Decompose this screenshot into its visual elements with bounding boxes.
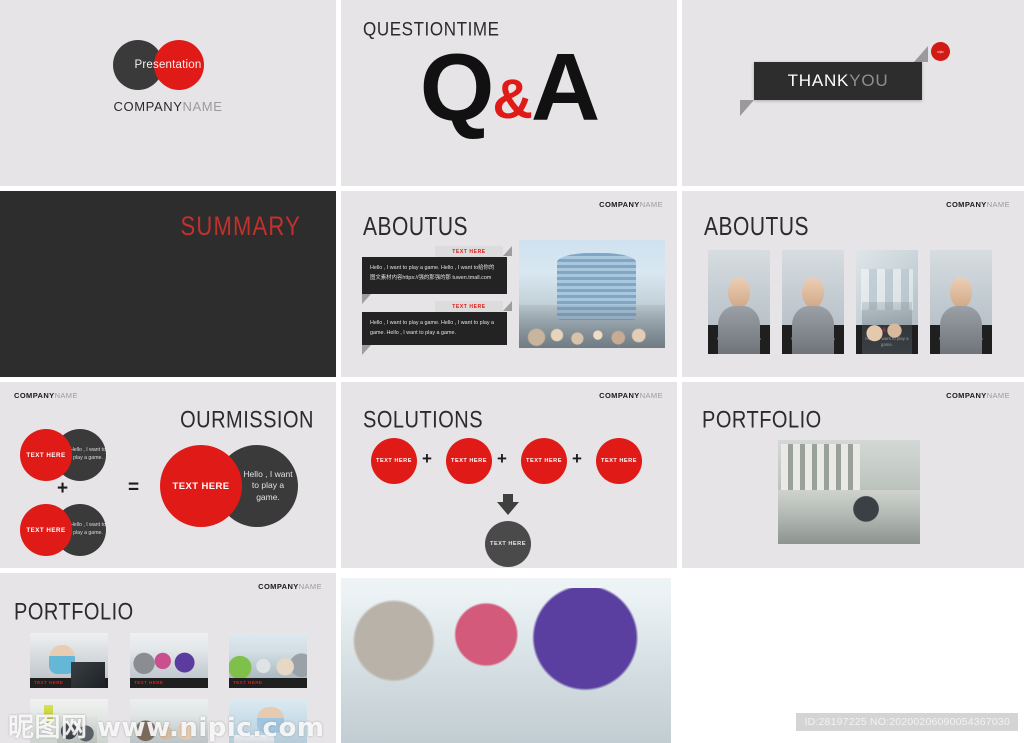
member-desc: Hello , I want to play a game. xyxy=(713,336,765,349)
company-bold: COMPANY xyxy=(946,200,987,209)
company-bold: COMPANY xyxy=(14,391,55,400)
solution-circle[interactable]: TEXT HERE xyxy=(446,438,492,484)
team-member-card[interactable]: NAME Hello , I want to play a game. xyxy=(930,250,992,354)
member-name: NAME xyxy=(713,328,765,334)
company-light: NAME xyxy=(55,391,78,400)
portfolio-card[interactable]: TEXT HERE xyxy=(229,633,307,688)
down-arrow-icon xyxy=(497,502,519,515)
solution-circle[interactable]: TEXT HERE xyxy=(521,438,567,484)
plus-operator: + xyxy=(422,449,432,469)
member-desc: Hello , I want to play a game. xyxy=(861,336,913,349)
company-bold: COMPANY xyxy=(946,391,987,400)
company-light: NAME xyxy=(299,582,322,591)
team-member-card[interactable]: NAME Hello , I want to play a game. xyxy=(782,250,844,354)
caption-title: TEXT HERE xyxy=(233,680,303,685)
mission-red-circle: TEXT HERE xyxy=(20,504,72,556)
bubble-tab-label: TEXT HERE xyxy=(452,304,485,310)
caption-title: TEXT HERE xyxy=(34,680,104,685)
slide-summary[interactable]: SUMMARY GONEXT ABOUTUS MISSION ANALYSIS … xyxy=(0,191,336,377)
letter-a: A xyxy=(531,40,598,136)
company-light: NAME xyxy=(987,200,1010,209)
company-tag: COMPANYNAME xyxy=(599,391,663,400)
team-member-card[interactable]: NAME Hello , I want to play a game. xyxy=(856,250,918,354)
page-title: OURMISSION xyxy=(180,407,314,435)
page-title: ABOUTUS xyxy=(363,213,468,242)
you-word: YOU xyxy=(849,71,888,90)
mission-result-red-circle: TEXT HERE xyxy=(160,445,242,527)
solution-circle[interactable]: TEXT HERE xyxy=(596,438,642,484)
cover-circle-label: Presentation xyxy=(113,40,223,90)
red-badge-icon: nipic xyxy=(931,42,950,61)
cover-circle-group: Presentation xyxy=(113,40,223,90)
company-tag: COMPANYNAME xyxy=(946,200,1010,209)
solution-circle[interactable]: TEXT HERE xyxy=(371,438,417,484)
company-light: NAME xyxy=(640,200,663,209)
company-bold: COMPANY xyxy=(599,391,640,400)
member-name: NAME xyxy=(861,328,913,334)
page-title: PORTFOLIO xyxy=(14,599,134,627)
equals-operator: = xyxy=(128,477,139,499)
member-name: NAME xyxy=(787,328,839,334)
bubble-fold-bottom-icon xyxy=(362,345,371,355)
page-title: SOLUTIONS xyxy=(363,407,483,435)
thank-you-text: THANKYOU xyxy=(788,71,889,91)
company-tag: COMPANYNAME xyxy=(14,391,78,400)
company-bold: COMPANY xyxy=(114,99,183,114)
portfolio-card[interactable]: TEXT HERE xyxy=(130,633,208,688)
mission-red-circle: TEXT HERE xyxy=(20,429,72,481)
thank-word: THANK xyxy=(788,71,850,90)
member-desc: Hello , I want to play a game. xyxy=(787,336,839,349)
bubble-tab: TEXT HERE xyxy=(435,301,503,312)
ribbon-fold-bottom-left-icon xyxy=(740,100,754,116)
slide-thumbnail-grid: Presentation COMPANYNAME QUESTIONTIME Q … xyxy=(0,0,1024,743)
company-light: NAME xyxy=(987,391,1010,400)
bubble-fold-top-icon xyxy=(503,301,512,311)
company-light: NAME xyxy=(640,391,663,400)
page-title: PORTFOLIO xyxy=(702,407,822,435)
about-us-photo xyxy=(519,240,665,348)
ampersand: & xyxy=(492,71,530,127)
qa-lettering: Q & A xyxy=(341,40,677,136)
member-name: NAME xyxy=(935,328,987,334)
portfolio-caption: TEXT HERE Hello , I want to play a game.… xyxy=(778,512,920,544)
down-arrow-stem-icon xyxy=(503,494,513,502)
company-tag: COMPANYNAME xyxy=(258,582,322,591)
plus-operator: + xyxy=(57,478,68,500)
ribbon-fold-top-right-icon xyxy=(914,46,928,62)
letter-q: Q xyxy=(420,40,493,136)
plus-operator: + xyxy=(497,449,507,469)
solution-result-circle[interactable]: TEXT HERE xyxy=(485,521,531,567)
portfolio-card[interactable]: TEXT HERE xyxy=(30,633,108,688)
image-id-watermark: ID:28197225 NO:20200206090054367030 xyxy=(796,713,1018,731)
company-bold: COMPANY xyxy=(599,200,640,209)
company-tag: COMPANYNAME xyxy=(599,200,663,209)
portfolio-caption: TEXT HERE xyxy=(130,678,208,688)
slide-our-mission[interactable]: COMPANYNAME OURMISSION TEXT HERE Hello ,… xyxy=(0,382,336,568)
slide-photo-students[interactable] xyxy=(341,578,671,743)
slide-portfolio-single[interactable]: COMPANYNAME PORTFOLIO TEXT HERE Hello , … xyxy=(682,382,1024,568)
portfolio-caption: TEXT HERE xyxy=(229,678,307,688)
bubble-body: Hello , I want to play a game. Hello , I… xyxy=(362,257,507,294)
company-tag: COMPANYNAME xyxy=(946,391,1010,400)
caption-title: TEXT HERE xyxy=(785,516,913,522)
team-member-caption: NAME Hello , I want to play a game. xyxy=(782,325,844,354)
member-desc: Hello , I want to play a game. xyxy=(935,336,987,349)
slide-thank-you[interactable]: THANKYOU nipic xyxy=(682,0,1024,186)
company-light: NAME xyxy=(183,99,223,114)
team-member-caption: NAME Hello , I want to play a game. xyxy=(930,325,992,354)
slide-about-us-team[interactable]: COMPANYNAME ABOUTUS NAME Hello , I want … xyxy=(682,191,1024,377)
bubble-fold-bottom-icon xyxy=(362,294,371,304)
cover-company-name: COMPANYNAME xyxy=(114,99,223,114)
bubble-fold-top-icon xyxy=(503,246,512,256)
caption-title: TEXT HERE xyxy=(134,680,204,685)
page-title: ABOUTUS xyxy=(704,213,809,242)
slide-question-time[interactable]: QUESTIONTIME Q & A xyxy=(341,0,677,186)
slide-solutions[interactable]: COMPANYNAME SOLUTIONS TEXT HERE + TEXT H… xyxy=(341,382,677,568)
summary-title: SUMMARY xyxy=(181,211,301,242)
team-member-caption: NAME Hello , I want to play a game. xyxy=(708,325,770,354)
portfolio-caption: TEXT HERE xyxy=(30,678,108,688)
thank-you-ribbon: THANKYOU xyxy=(754,62,922,100)
slide-cover[interactable]: Presentation COMPANYNAME xyxy=(0,0,336,186)
caption-desc: Hello , I want to play a game. Hello , I… xyxy=(785,524,913,538)
plus-operator: + xyxy=(572,449,582,469)
team-member-card[interactable]: NAME Hello , I want to play a game. xyxy=(708,250,770,354)
portfolio-feature-card[interactable]: TEXT HERE Hello , I want to play a game.… xyxy=(778,440,920,544)
company-bold: COMPANY xyxy=(258,582,299,591)
bubble-tab-label: TEXT HERE xyxy=(452,249,485,255)
site-watermark: 昵图网 www.nipic.com xyxy=(8,707,324,743)
team-member-caption: NAME Hello , I want to play a game. xyxy=(856,325,918,354)
bubble-body: Hello , I want to play a game. Hello , I… xyxy=(362,312,507,345)
bubble-tab: TEXT HERE xyxy=(435,246,503,257)
badge-label: nipic xyxy=(937,50,943,54)
slide-about-us-text[interactable]: COMPANYNAME ABOUTUS TEXT HERE Hello , I … xyxy=(341,191,677,377)
